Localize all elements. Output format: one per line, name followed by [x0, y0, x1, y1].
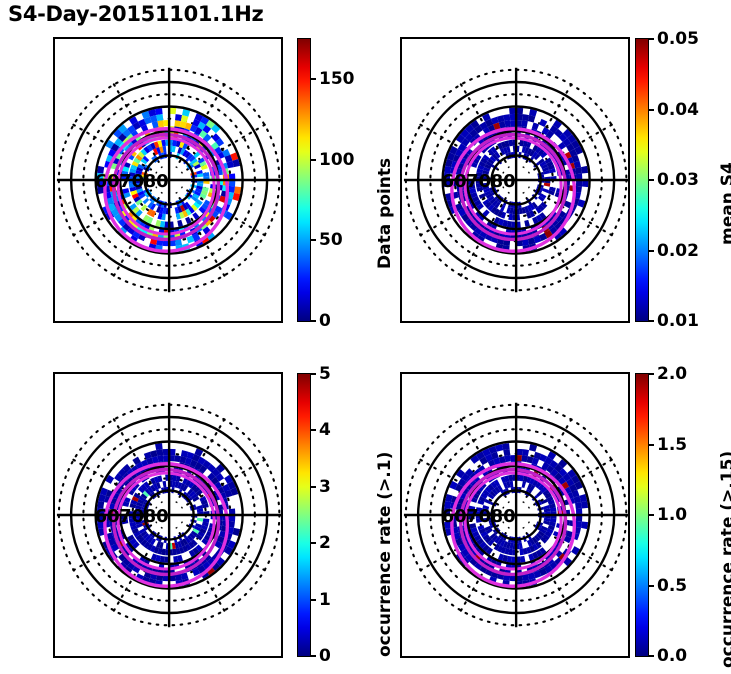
colorbar-tick: 100	[310, 150, 355, 170]
tick-mark-icon	[310, 239, 316, 241]
tick-mark-icon	[648, 585, 654, 587]
colorbar-tick: 0.04	[648, 100, 699, 120]
colorbar-tick-label: 1	[319, 590, 331, 610]
colorbar-ticks: 0.010.020.030.040.05	[648, 39, 718, 321]
tick-mark-icon	[310, 429, 316, 431]
colorbar-tick: 0.03	[648, 170, 699, 190]
tick-mark-icon	[648, 320, 654, 322]
colorbar-tick: 2.0	[648, 364, 687, 384]
colorbar-data-points: 050100150	[297, 38, 311, 322]
tick-mark-icon	[648, 179, 654, 181]
tick-mark-icon	[648, 514, 654, 516]
tick-mark-icon	[648, 373, 654, 375]
colorbar-tick-label: 0.0	[657, 646, 687, 666]
latitude-tick-label: 80	[144, 506, 169, 527]
colorbar-ticks: 012345	[310, 374, 380, 656]
colorbar-tick: 1.5	[648, 435, 687, 455]
colorbar-tick-label: 150	[319, 69, 355, 89]
colorbar-tick: 0.0	[648, 646, 687, 666]
colorbar-tick-label: 100	[319, 150, 355, 170]
colorbar-tick-label: 0.04	[657, 100, 699, 120]
colorbar-tick-label: 50	[319, 230, 343, 250]
tick-mark-icon	[648, 38, 654, 40]
polar-axes-occ-rate-01: 607080	[53, 372, 283, 658]
colorbar-tick: 0	[310, 646, 331, 666]
colorbar-tick-label: 0.5	[657, 576, 687, 596]
colorbar-tick: 0.02	[648, 241, 699, 261]
colorbar-tick-label: 1.5	[657, 435, 687, 455]
tick-mark-icon	[310, 159, 316, 161]
tick-mark-icon	[310, 373, 316, 375]
tick-mark-icon	[648, 444, 654, 446]
latitude-tick-label: 70	[119, 506, 144, 527]
colorbar-tick: 50	[310, 230, 343, 250]
latitude-tick-label: 70	[466, 506, 491, 527]
colorbar-gradient	[636, 374, 648, 656]
tick-mark-icon	[310, 320, 316, 322]
figure-canvas: S4-Day-20151101.1Hz 607080 050100150 Dat…	[0, 0, 731, 674]
colorbar-mean-s4: 0.010.020.030.040.05	[635, 38, 649, 322]
colorbar-gradient	[298, 39, 310, 321]
colorbar-tick: 1.0	[648, 505, 687, 525]
latitude-tick-label: 60	[442, 506, 467, 527]
polar-plot-svg: 607080	[55, 39, 281, 321]
colorbar-tick-label: 0	[319, 311, 331, 331]
polar-plot-svg: 607080	[55, 374, 281, 656]
colorbar-tick: 0.01	[648, 311, 699, 331]
colorbar-label-occ-rate-015: occurrence rate (>.15)	[718, 451, 731, 668]
colorbar-ticks: 050100150	[310, 39, 380, 321]
colorbar-occ-rate-01: 012345	[297, 373, 311, 657]
tick-mark-icon	[310, 78, 316, 80]
colorbar-tick-label: 5	[319, 364, 331, 384]
latitude-tick-label: 70	[119, 171, 144, 192]
colorbar-tick: 0.05	[648, 29, 699, 49]
colorbar-ticks: 0.00.51.01.52.0	[648, 374, 718, 656]
colorbar-tick: 2	[310, 533, 331, 553]
latitude-tick-label: 70	[466, 171, 491, 192]
colorbar-tick-label: 2.0	[657, 364, 687, 384]
latitude-tick-label: 60	[95, 506, 120, 527]
colorbar-tick-label: 0.05	[657, 29, 699, 49]
tick-mark-icon	[310, 599, 316, 601]
latitude-tick-label: 60	[95, 171, 120, 192]
figure-title: S4-Day-20151101.1Hz	[8, 2, 263, 26]
colorbar-label-occ-rate-01: occurrence rate (>.1)	[375, 452, 395, 657]
colorbar-tick-label: 0.03	[657, 170, 699, 190]
colorbar-tick-label: 0.02	[657, 241, 699, 261]
polar-axes-data-points: 607080	[53, 37, 283, 323]
polar-plot-svg: 607080	[402, 39, 628, 321]
tick-mark-icon	[310, 655, 316, 657]
colorbar-tick-label: 1.0	[657, 505, 687, 525]
colorbar-tick-label: 0	[319, 646, 331, 666]
latitude-tick-label: 80	[491, 171, 516, 192]
colorbar-tick: 150	[310, 69, 355, 89]
colorbar-tick: 0.5	[648, 576, 687, 596]
colorbar-tick: 3	[310, 477, 331, 497]
latitude-tick-label: 80	[144, 171, 169, 192]
tick-mark-icon	[648, 655, 654, 657]
colorbar-tick: 5	[310, 364, 331, 384]
colorbar-tick: 4	[310, 420, 331, 440]
colorbar-occ-rate-015: 0.00.51.01.52.0	[635, 373, 649, 657]
polar-plot-svg: 607080	[402, 374, 628, 656]
tick-mark-icon	[648, 250, 654, 252]
colorbar-tick-label: 2	[319, 533, 331, 553]
latitude-tick-label: 60	[442, 171, 467, 192]
colorbar-tick-label: 4	[319, 420, 331, 440]
polar-axes-occ-rate-015: 607080	[400, 372, 630, 658]
polar-axes-mean-s4: 607080	[400, 37, 630, 323]
colorbar-gradient	[298, 374, 310, 656]
latitude-tick-label: 80	[491, 506, 516, 527]
colorbar-tick: 0	[310, 311, 331, 331]
tick-mark-icon	[648, 109, 654, 111]
colorbar-label-data-points: Data points	[375, 158, 395, 269]
colorbar-tick-label: 0.01	[657, 311, 699, 331]
colorbar-tick: 1	[310, 590, 331, 610]
colorbar-label-mean-s4: mean S4	[718, 162, 731, 245]
colorbar-tick-label: 3	[319, 477, 331, 497]
tick-mark-icon	[310, 486, 316, 488]
tick-mark-icon	[310, 542, 316, 544]
colorbar-gradient	[636, 39, 648, 321]
